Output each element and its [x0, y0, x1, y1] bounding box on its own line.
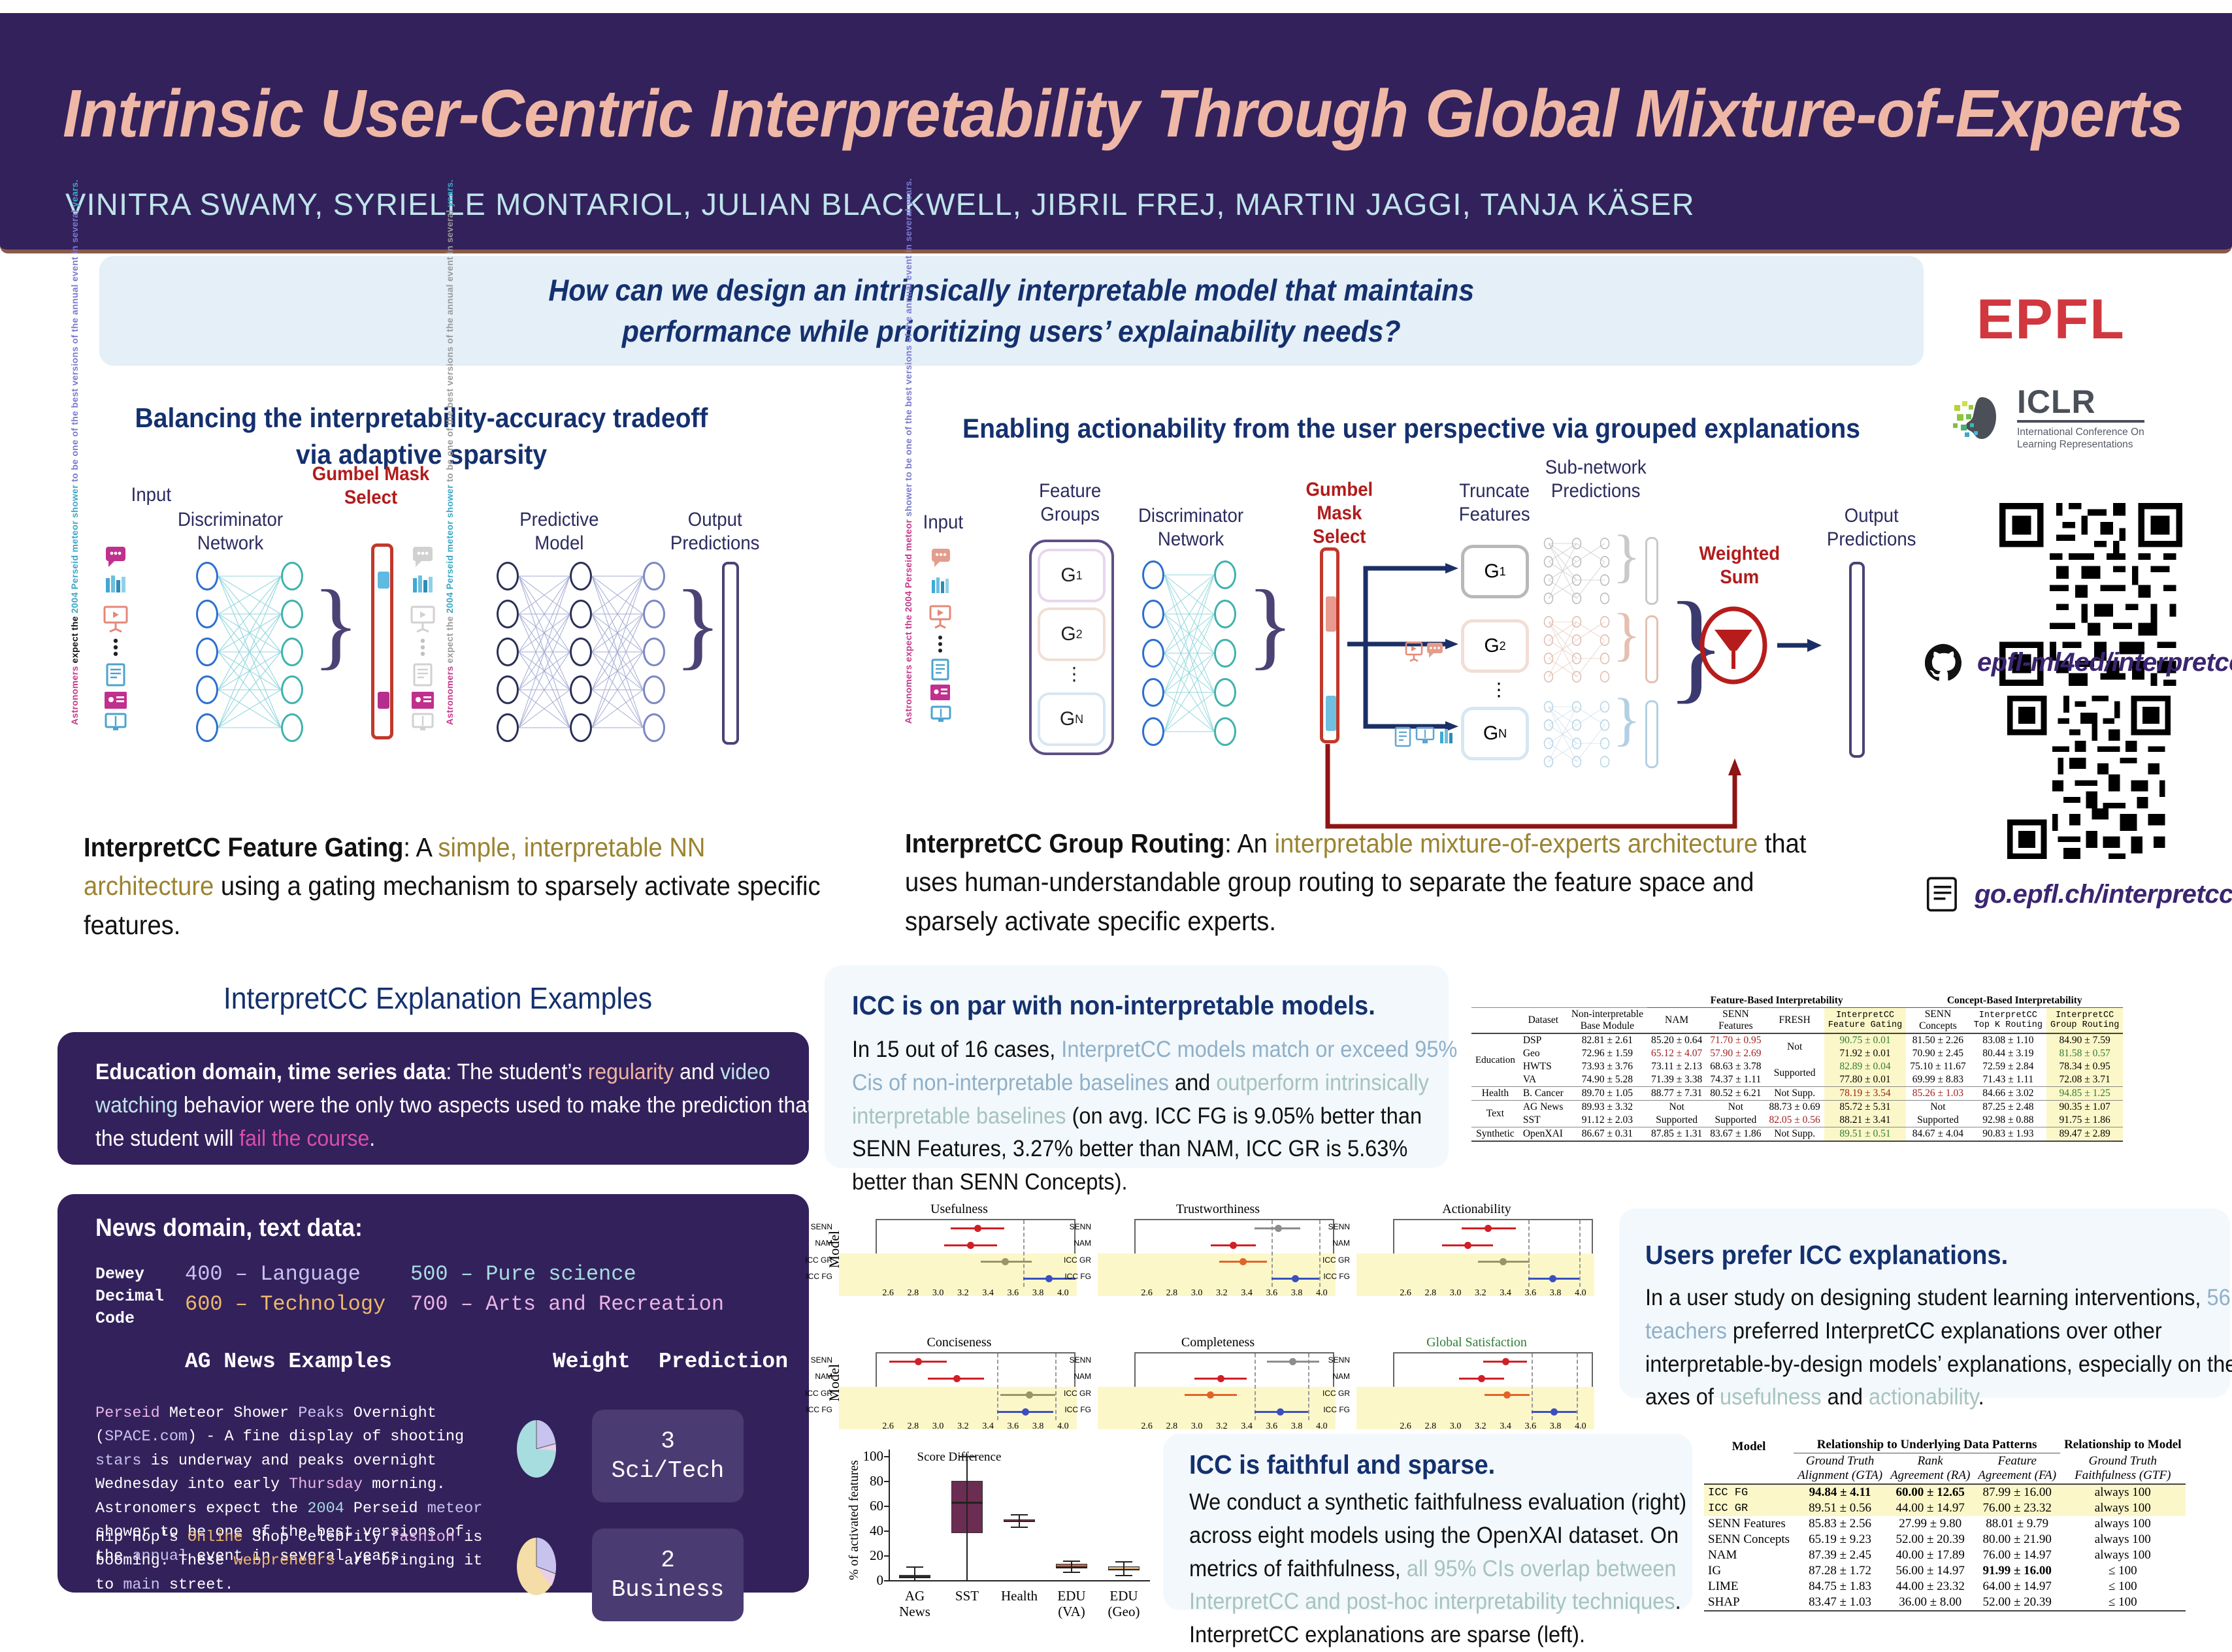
cell-dataset: HWTS	[1519, 1060, 1567, 1073]
faith-cell-fa: 64.00 ± 14.97	[1974, 1579, 2060, 1595]
cell-icctopk: 80.44 ± 3.19	[1970, 1047, 2046, 1060]
data-point	[1275, 1225, 1282, 1232]
col-base: Non-interpretableBase Module	[1567, 1008, 1647, 1034]
faith-cell-gtf: ≤ 100	[2060, 1579, 2185, 1595]
box-plot-whisker	[914, 1566, 915, 1580]
gr-gumbel-bar	[1320, 547, 1339, 743]
iclr-sub-2: Learning Representations	[2017, 439, 2133, 450]
cell-base: 82.81 ± 2.61	[1567, 1033, 1647, 1047]
reference-line	[1577, 1353, 1578, 1420]
cell-sennc: 69.99 ± 8.83	[1906, 1073, 1969, 1087]
row-group-health: Health	[1471, 1087, 1519, 1101]
cell-iccgr: 72.08 ± 3.71	[2046, 1073, 2123, 1087]
x-tick-label: 2.8	[904, 1421, 922, 1432]
data-point	[915, 1358, 922, 1365]
x-tick-label: 3.8	[1029, 1288, 1047, 1299]
pred-2-label: Business	[612, 1575, 725, 1604]
faith-col-gta: Ground TruthAlignment (GTA)	[1794, 1453, 1886, 1485]
forest-plot-area	[876, 1352, 1075, 1419]
faith-cell-ra: 36.00 ± 8.00	[1886, 1595, 1974, 1611]
y-axis-label: Model	[826, 1231, 843, 1268]
col-icc-gr: InterpretCCGroup Routing	[2046, 1008, 2123, 1034]
cell-sennf: 74.37 ± 1.11	[1706, 1073, 1765, 1087]
y-tick-mark	[884, 1555, 889, 1557]
faith-cell-fa: 87.99 ± 16.00	[1974, 1484, 2060, 1500]
cell-sennc: Not	[1906, 1101, 1969, 1114]
cell-fresh: 82.05 ± 0.56	[1765, 1114, 1824, 1127]
cell-iccfg: 85.72 ± 5.31	[1824, 1101, 1906, 1114]
edu-t2: and	[674, 1060, 720, 1084]
cell-nam: 71.39 ± 3.38	[1647, 1073, 1706, 1087]
cell-iccgr: 78.34 ± 0.95	[2046, 1060, 2123, 1073]
x-tick-label: 3.8	[1547, 1288, 1565, 1299]
truncate-group-1: G1	[1461, 545, 1529, 598]
box-plot-cap	[906, 1580, 923, 1581]
table-row: SHAP 83.47 ± 1.03 36.00 ± 8.00 52.00 ± 2…	[1704, 1595, 2186, 1611]
table-row: SST 91.12 ± 2.03 Supported Supported 82.…	[1471, 1114, 2123, 1127]
reference-line	[1272, 1220, 1273, 1287]
x-tick-label: 2.8	[904, 1288, 922, 1299]
faith-cell-gta: 85.83 ± 2.56	[1794, 1516, 1886, 1532]
cell-iccgr: 84.90 ± 7.59	[2046, 1033, 2123, 1047]
data-point	[1026, 1391, 1033, 1399]
edu-bold: Education domain, time series data	[95, 1060, 446, 1084]
cell-sennf: 83.67 ± 1.86	[1706, 1127, 1765, 1142]
data-point	[1230, 1242, 1237, 1249]
data-point	[1502, 1358, 1509, 1365]
box-plot-cap	[959, 1580, 976, 1581]
x-tick-label: 4.0	[1313, 1421, 1331, 1432]
col-icc-fg: InterpretCCFeature Gating	[1824, 1008, 1906, 1034]
x-tick-label: 3.6	[1004, 1288, 1022, 1299]
output-bar-left	[722, 562, 739, 745]
gr-label-input: Input	[923, 511, 963, 534]
faithfulness-table: Model Relationship to Underlying Data Pa…	[1704, 1437, 2186, 1612]
iclr-wordmark: ICLR	[2017, 385, 2144, 423]
news-row-2-prediction: 2 Business	[592, 1529, 744, 1621]
pred-1-label: Sci/Tech	[612, 1456, 725, 1485]
input-icons-left	[98, 545, 135, 732]
fg-caption-seg1: : A	[403, 832, 438, 862]
cell-dataset: B. Cancer	[1519, 1087, 1567, 1101]
y-tick-label: 0	[860, 1572, 883, 1589]
faith-cell-gtf: always 100	[2060, 1516, 2185, 1532]
faith-cell-model: LIME	[1704, 1579, 1794, 1595]
x-tick-label: 4.0	[1571, 1421, 1590, 1432]
reference-line	[1528, 1220, 1530, 1287]
col-fresh: FRESH	[1765, 1008, 1824, 1034]
news-col-header-prediction: Prediction	[659, 1350, 788, 1374]
faith-cell-gtf: always 100	[2060, 1547, 2185, 1563]
table-row: Education DSP 82.81 ± 2.61 85.20 ± 0.64 …	[1471, 1033, 2123, 1047]
data-point	[967, 1242, 974, 1249]
gr-label-truncate: TruncateFeatures	[1459, 479, 1530, 526]
forest-row-label: NAM	[1059, 1239, 1091, 1248]
label-output: OutputPredictions	[670, 508, 760, 555]
subnet-brace-1: }	[1613, 523, 1641, 590]
col-senn-f: SENNFeatures	[1706, 1008, 1765, 1034]
forest-row-label: NAM	[1059, 1372, 1091, 1381]
x-tick-label: 2.6	[1138, 1288, 1156, 1299]
cell-fresh: Not Supp.	[1765, 1127, 1824, 1142]
paper-link-row[interactable]: go.epfl.ch/interpretcc	[1925, 875, 2232, 913]
input-sample-text-left: Astronomers expect the 2004 Perseid mete…	[69, 545, 80, 725]
row-group-synthetic: Synthetic	[1471, 1127, 1519, 1142]
x-tick-label: 3.4	[1496, 1288, 1515, 1299]
forest-row-label: ICC FG	[1317, 1272, 1350, 1281]
cell-base: 72.96 ± 1.59	[1567, 1047, 1647, 1060]
faith-group-patterns: Relationship to Underlying Data Patterns	[1794, 1437, 2060, 1453]
data-point	[1503, 1391, 1511, 1399]
x-tick-label: 3.0	[929, 1421, 947, 1432]
cell-iccfg: 78.19 ± 3.54	[1824, 1087, 1906, 1101]
cell-iccfg: 77.80 ± 0.01	[1824, 1073, 1906, 1087]
faith-cell-model: ICC GR	[1704, 1500, 1794, 1516]
truncate-group-2: G2	[1461, 619, 1529, 673]
box-plot-whisker	[1123, 1561, 1124, 1575]
faith-cell-model: SENN Features	[1704, 1516, 1794, 1532]
cell-fresh: 88.73 ± 0.69	[1765, 1101, 1824, 1114]
cell-sennf: 57.90 ± 2.69	[1706, 1047, 1765, 1060]
forest-row-label: ICC FG	[1317, 1405, 1350, 1414]
main-results-table: Feature-Based Interpretability Concept-B…	[1471, 994, 2123, 1142]
gr-input-sample-text: Astronomers expect the 2004 Perseid mete…	[903, 547, 913, 724]
faith-cell-gta: 83.47 ± 1.03	[1794, 1595, 1886, 1611]
icc-par-body: In 15 out of 16 cases, InterpretCC model…	[852, 1033, 1460, 1199]
output-arrow	[1777, 635, 1823, 656]
table-group-header-row: Feature-Based Interpretability Concept-B…	[1471, 994, 2123, 1008]
x-tick-label: EDU(Geo)	[1094, 1588, 1154, 1619]
reference-line	[997, 1353, 998, 1420]
faith-group-model: Relationship to Model	[2060, 1437, 2185, 1453]
forest-row-label: ICC GR	[1317, 1389, 1350, 1398]
cell-iccfg: 71.92 ± 0.01	[1824, 1047, 1906, 1060]
forest-plot-area	[1393, 1352, 1593, 1419]
gr-label-feature-groups: FeatureGroups	[1039, 479, 1101, 526]
subnet-output-1	[1645, 537, 1658, 605]
poster-header: Intrinsic User-Centric Interpretability …	[0, 13, 2232, 253]
x-tick-label: 3.2	[1213, 1421, 1231, 1432]
cell-iccgr: 89.47 ± 2.89	[2046, 1127, 2123, 1142]
subnet-output-2	[1645, 615, 1658, 683]
reference-line	[1255, 1353, 1256, 1420]
forest-row-label: SENN	[1317, 1222, 1350, 1231]
news-col-header-examples: AG News Examples	[185, 1350, 392, 1374]
box-plot-whisker	[1019, 1514, 1020, 1527]
x-tick-label: 3.8	[1029, 1421, 1047, 1432]
icc-par-t1: In 15 out of 16 cases,	[852, 1037, 1061, 1062]
user-study-forest-plots: UsefulnessSENNNAMICC GRICC FG2.62.83.03.…	[836, 1202, 1614, 1424]
gr-caption-seg1: : An	[1224, 828, 1274, 858]
forest-panel-title: Global Satisfaction	[1354, 1335, 1600, 1350]
table-row: SENN Concepts 65.19 ± 9.23 52.00 ± 20.39…	[1704, 1532, 2186, 1547]
reference-line	[1532, 1353, 1533, 1420]
brace-left-2: }	[674, 568, 721, 681]
cell-icctopk: 87.25 ± 2.48	[1970, 1101, 2046, 1114]
edu-t3: behavior were the only two aspects used …	[95, 1093, 813, 1151]
forest-row-label: ICC GR	[1059, 1255, 1091, 1265]
label-input: Input	[131, 483, 171, 507]
cell-base: 86.67 ± 0.31	[1567, 1127, 1647, 1142]
github-link-label[interactable]: epfl-ml4ed/interpretcc	[1977, 648, 2232, 677]
reference-line	[1023, 1220, 1025, 1287]
y-axis-label: Model	[826, 1364, 843, 1401]
gr-brace-1: }	[1247, 568, 1294, 681]
faith-cell-gta: 87.39 ± 2.45	[1794, 1547, 1886, 1563]
truncate-icons-g2	[1405, 640, 1452, 662]
box-plot-cap	[1115, 1561, 1132, 1563]
up-t3: and	[1822, 1384, 1869, 1410]
right-panel-heading: Enabling actionability from the user per…	[949, 410, 1873, 447]
data-point	[953, 1375, 960, 1382]
cell-sennc: Supported	[1906, 1114, 1969, 1127]
cell-icctopk: 92.98 ± 0.88	[1970, 1114, 2046, 1127]
forest-panel-title: Usefulness	[836, 1202, 1082, 1217]
forest-panel-usefulness: UsefulnessSENNNAMICC GRICC FG2.62.83.03.…	[836, 1202, 1082, 1334]
faith-cell-gta: 87.28 ± 1.72	[1794, 1563, 1886, 1579]
cell-nam: 87.85 ± 1.31	[1647, 1127, 1706, 1142]
cell-fresh: Supported	[1765, 1060, 1824, 1087]
masked-input-icons	[405, 545, 442, 732]
data-point	[1217, 1375, 1224, 1382]
users-prefer-heading: Users prefer ICC explanations.	[1645, 1240, 2008, 1271]
x-tick-label: 3.6	[1004, 1421, 1022, 1432]
page-title: Intrinsic User-Centric Interpretability …	[63, 75, 2183, 152]
data-point	[1551, 1408, 1558, 1416]
research-question-text: How can we design an intrinsically inter…	[549, 270, 1475, 353]
label-gumbel-mask: Gumbel MaskSelect	[312, 462, 429, 510]
edu-t4: .	[369, 1126, 375, 1151]
paper-link-label[interactable]: go.epfl.ch/interpretcc	[1975, 880, 2232, 909]
forest-panel-title: Completeness	[1095, 1335, 1341, 1350]
cell-base: 74.90 ± 5.28	[1567, 1073, 1647, 1087]
group-routing-caption: InterpretCC Group Routing: An interpreta…	[905, 824, 1853, 941]
forest-panel-trustworthiness: TrustworthinessSENNNAMICC GRICC FG2.62.8…	[1095, 1202, 1341, 1334]
x-tick-label: 3.2	[1213, 1288, 1231, 1299]
question-line-2: performance while prioritizing users’ ex…	[549, 311, 1475, 352]
y-tick-label: 100	[860, 1448, 883, 1465]
data-point	[1289, 1358, 1296, 1365]
y-axis-line	[889, 1450, 890, 1580]
cell-nam: 88.77 ± 7.31	[1647, 1087, 1706, 1101]
table-row: ICC FG 94.84 ± 4.11 60.00 ± 12.65 87.99 …	[1704, 1484, 2186, 1500]
forest-row-label: SENN	[800, 1222, 832, 1231]
faith-col-gtf: Ground TruthFaithfulness (GTF)	[2060, 1453, 2185, 1485]
box-plot-cap	[1063, 1561, 1080, 1562]
cell-iccgr: 90.35 ± 1.07	[2046, 1101, 2123, 1114]
group-header-concept: Concept-Based Interpretability	[1906, 994, 2123, 1008]
github-link-row[interactable]: epfl-ml4ed/interpretcc	[1925, 643, 2232, 681]
icc-par-t2: and	[1169, 1070, 1216, 1095]
input-sample-text-masked: Astronomers expect the 2004 Perseid mete…	[444, 545, 455, 725]
forest-row-label: ICC FG	[800, 1405, 832, 1414]
subnet-brace-2: }	[1613, 601, 1641, 668]
y-tick-mark	[884, 1506, 889, 1507]
iclr-head-icon	[1950, 395, 2010, 442]
forest-row-label: NAM	[1317, 1239, 1350, 1248]
news-example-card: News domain, text data: DeweyDecimalCode…	[57, 1194, 809, 1593]
box-plot-cap	[1011, 1527, 1028, 1528]
cell-icctopk: 84.66 ± 3.02	[1970, 1087, 2046, 1101]
cell-base: 73.93 ± 3.76	[1567, 1060, 1647, 1073]
users-prefer-card: Users prefer ICC explanations. In a user…	[1619, 1208, 2230, 1398]
x-tick-label: 3.6	[1521, 1288, 1539, 1299]
cell-icctopk: 90.83 ± 1.93	[1970, 1127, 2046, 1142]
edu-t1: : The student’s	[446, 1060, 587, 1084]
forest-row-label: SENN	[1059, 1355, 1091, 1365]
qr-code-github[interactable]	[2007, 696, 2171, 859]
iclr-sub-1: International Conference On	[2017, 427, 2144, 438]
cell-nam: 85.20 ± 0.64	[1647, 1033, 1706, 1047]
x-tick-label: 3.4	[979, 1288, 997, 1299]
faith-cell-model: IG	[1704, 1563, 1794, 1579]
forest-row-label: NAM	[1317, 1372, 1350, 1381]
left-heading-line1: Balancing the interpretability-accuracy …	[133, 400, 710, 436]
cell-icctopk: 83.08 ± 1.10	[1970, 1033, 2046, 1047]
icc-on-par-card: ICC is on par with non-interpretable mod…	[825, 965, 1449, 1168]
up-hl3: actionability	[1869, 1384, 1978, 1410]
table-row: LIME 84.75 ± 1.83 44.00 ± 23.32 64.00 ± …	[1704, 1579, 2186, 1595]
x-tick-label: 2.6	[879, 1288, 897, 1299]
faith-cell-gtf: always 100	[2060, 1500, 2185, 1516]
edu-hl1: regularity	[588, 1060, 674, 1084]
cell-icctopk: 72.59 ± 2.84	[1970, 1060, 2046, 1073]
cell-fresh: Not Supp.	[1765, 1087, 1824, 1101]
fg-caption-bold: InterpretCC Feature Gating	[84, 832, 403, 862]
forest-panel-title: Conciseness	[836, 1335, 1082, 1350]
x-tick-label: 2.6	[879, 1421, 897, 1432]
forest-plot-area	[876, 1219, 1075, 1286]
cell-nam: 73.11 ± 2.13	[1647, 1060, 1706, 1073]
news-card-title: News domain, text data:	[95, 1210, 363, 1247]
y-tick-mark	[884, 1580, 889, 1581]
question-line-1: How can we design an intrinsically inter…	[549, 270, 1475, 311]
education-example-card: Education domain, time series data: The …	[57, 1032, 809, 1165]
x-tick-label: 3.4	[979, 1421, 997, 1432]
feature-gating-diagram: Input DiscriminatorNetwork Gumbel MaskSe…	[78, 483, 849, 817]
x-tick-label: 3.6	[1521, 1421, 1539, 1432]
x-tick-label: 4.0	[1054, 1288, 1072, 1299]
gr-label-subnetwork: Sub-networkPredictions	[1545, 456, 1647, 503]
gr-label-output: OutputPredictions	[1827, 504, 1916, 551]
weighted-sum-node	[1698, 606, 1769, 685]
reference-line	[1579, 1220, 1581, 1287]
data-point	[974, 1225, 981, 1232]
x-tick-label: 3.2	[954, 1421, 972, 1432]
x-tick-label: 2.6	[1396, 1421, 1415, 1432]
col-nam: NAM	[1647, 1008, 1706, 1034]
faithful-heading: ICC is faithful and sparse.	[1189, 1450, 1495, 1480]
y-tick-label: 20	[860, 1547, 883, 1564]
cell-sennc: 84.67 ± 4.04	[1906, 1127, 1969, 1142]
cell-iccfg: 90.75 ± 0.01	[1824, 1033, 1906, 1047]
table-row: NAM 87.39 ± 2.45 40.00 ± 17.89 76.00 ± 1…	[1704, 1547, 2186, 1563]
forest-row-label: ICC GR	[1059, 1389, 1091, 1398]
x-tick-label: 3.8	[1547, 1421, 1565, 1432]
table-row: IG 87.28 ± 1.72 56.00 ± 14.97 91.99 ± 16…	[1704, 1563, 2186, 1579]
cell-base: 89.93 ± 3.32	[1567, 1101, 1647, 1114]
x-tick-label: 3.0	[1188, 1288, 1206, 1299]
cell-iccfg: 89.51 ± 0.51	[1824, 1127, 1906, 1142]
left-panel-heading: Balancing the interpretability-accuracy …	[133, 400, 710, 473]
x-tick-label: 3.2	[1471, 1421, 1490, 1432]
forest-plot-area	[1134, 1352, 1334, 1419]
table-row: ICC GR 89.51 ± 0.56 44.00 ± 14.97 76.00 …	[1704, 1500, 2186, 1516]
cell-base: 91.12 ± 2.03	[1567, 1114, 1647, 1127]
y-tick-mark	[884, 1531, 889, 1532]
x-tick-label: 3.4	[1238, 1288, 1256, 1299]
icc-par-heading: ICC is on par with non-interpretable mod…	[852, 990, 1375, 1021]
x-tick-label: 3.2	[1471, 1288, 1490, 1299]
table-row: SENN Features 85.83 ± 2.56 27.99 ± 9.80 …	[1704, 1516, 2186, 1532]
cell-dataset: SST	[1519, 1114, 1567, 1127]
cell-iccfg: 88.21 ± 3.41	[1824, 1114, 1906, 1127]
forest-plot-area	[1393, 1219, 1593, 1286]
data-point	[1485, 1225, 1492, 1232]
cell-sennc: 81.50 ± 2.26	[1906, 1033, 1969, 1047]
y-tick-label: 40	[860, 1523, 883, 1539]
dewey-code-3: 700 – Arts and Recreation	[410, 1292, 724, 1316]
box-plot-whisker	[1071, 1561, 1072, 1572]
forest-panel-title: Actionability	[1354, 1202, 1600, 1217]
data-point	[1464, 1242, 1471, 1249]
news-col-header-weight: Weight	[553, 1350, 631, 1374]
news-row-2-weight-pie	[515, 1537, 558, 1596]
gr-label-gumbel: GumbelMaskSelect	[1305, 478, 1373, 549]
iclr-text: ICLR International Conference On Learnin…	[2017, 385, 2144, 451]
faith-cell-fa: 76.00 ± 23.32	[1974, 1500, 2060, 1516]
author-list: VINITRA SWAMY, SYRIELLE MONTARIOL, JULIA…	[65, 186, 1695, 222]
cell-nam: Supported	[1647, 1114, 1706, 1127]
dewey-code-1: 500 – Pure science	[410, 1262, 636, 1286]
up-hl2: usefulness	[1720, 1384, 1822, 1410]
y-tick-label: 60	[860, 1498, 883, 1514]
paper-scroll-icon	[1925, 875, 1960, 913]
x-tick-label: 2.6	[1138, 1421, 1156, 1432]
forest-plot-area	[1134, 1219, 1334, 1286]
gumbel-mask-bar-left	[371, 543, 393, 739]
faith-cell-gtf: always 100	[2060, 1532, 2185, 1547]
y-tick-label: 80	[860, 1473, 883, 1489]
subnetwork-2	[1541, 614, 1613, 686]
up-t4: .	[1978, 1384, 1984, 1410]
epfl-logo: EPFL	[1977, 287, 2125, 352]
sparsity-box-plot: % of activated features020406080100AGNew…	[843, 1440, 1183, 1636]
data-point	[1478, 1375, 1485, 1382]
users-prefer-body: In a user study on designing student lea…	[1645, 1282, 2232, 1414]
box-plot-cap	[906, 1566, 923, 1568]
table-column-header-row: Dataset Non-interpretableBase Module NAM…	[1471, 1008, 2123, 1034]
cell-iccfg: 82.89 ± 0.04	[1824, 1060, 1906, 1073]
cell-icctopk: 71.43 ± 1.11	[1970, 1073, 2046, 1087]
faith-cell-model: SENN Concepts	[1704, 1532, 1794, 1547]
x-tick-label: 3.4	[1496, 1421, 1515, 1432]
reference-line	[1055, 1353, 1057, 1420]
faith-col-ra: RankAgreement (RA)	[1886, 1453, 1974, 1485]
faith-cell-ra: 60.00 ± 12.65	[1886, 1484, 1974, 1500]
pred-2-num: 2	[661, 1546, 675, 1575]
x-axis-line	[889, 1580, 1150, 1581]
gr-input-icons	[927, 549, 959, 725]
predictive-edges	[519, 562, 643, 745]
edu-hl3: fail the course	[239, 1126, 369, 1151]
pred-1-num: 3	[661, 1427, 675, 1456]
cell-sennc: 75.10 ± 11.67	[1906, 1060, 1969, 1073]
label-predictive-model: PredictiveModel	[519, 508, 599, 555]
faith-cell-ra: 56.00 ± 14.97	[1886, 1563, 1974, 1579]
x-tick-label: 3.0	[1447, 1421, 1465, 1432]
up-t1: In a user study on designing student lea…	[1645, 1285, 2207, 1310]
